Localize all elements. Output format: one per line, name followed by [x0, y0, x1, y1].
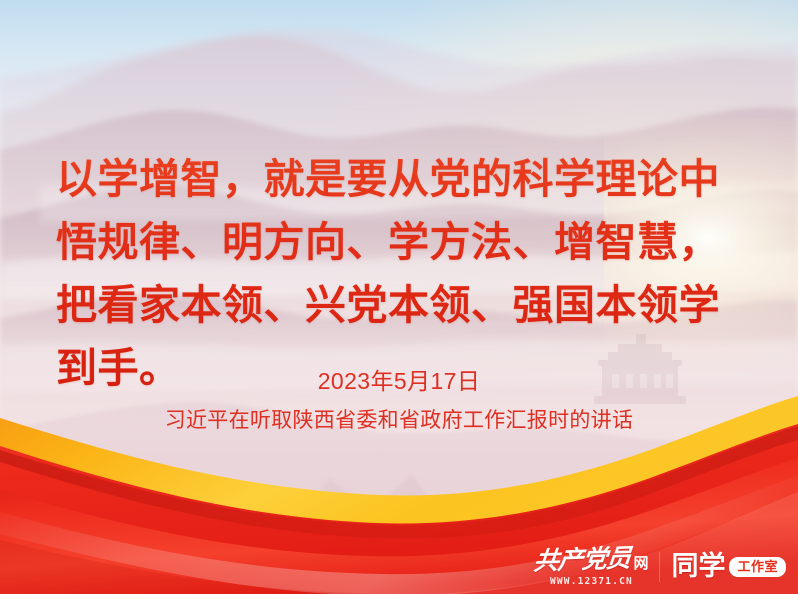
logo-divider — [659, 552, 660, 582]
logo-studio-name: 同学 — [671, 553, 725, 580]
logo-studio-pill: 工作室 — [729, 557, 786, 577]
logo-site-calligraphy: 共产党员 — [533, 546, 632, 574]
logo-site-url: WWW.12371.CN — [550, 577, 633, 587]
poster-canvas: 以学增智，就是要从党的科学理论中悟规律、明方向、学方法、增智慧，把看家本领、兴党… — [0, 0, 798, 594]
poster-source-attribution: 习近平在听取陕西省委和省政府工作汇报时的讲话 — [0, 404, 798, 434]
poster-date: 2023年5月17日 — [0, 362, 798, 396]
logo-group: 共产党员 网 WWW.12371.CN 同学 工作室 — [534, 548, 786, 587]
poster-content: 以学增智，就是要从党的科学理论中悟规律、明方向、学方法、增智慧，把看家本领、兴党… — [0, 0, 798, 594]
logo-12371-site[interactable]: 共产党员 网 WWW.12371.CN — [534, 548, 648, 587]
logo-studio[interactable]: 同学 工作室 — [671, 553, 786, 580]
logo-site-suffix: 网 — [633, 556, 648, 573]
logo-site-row: 共产党员 网 — [534, 548, 648, 573]
